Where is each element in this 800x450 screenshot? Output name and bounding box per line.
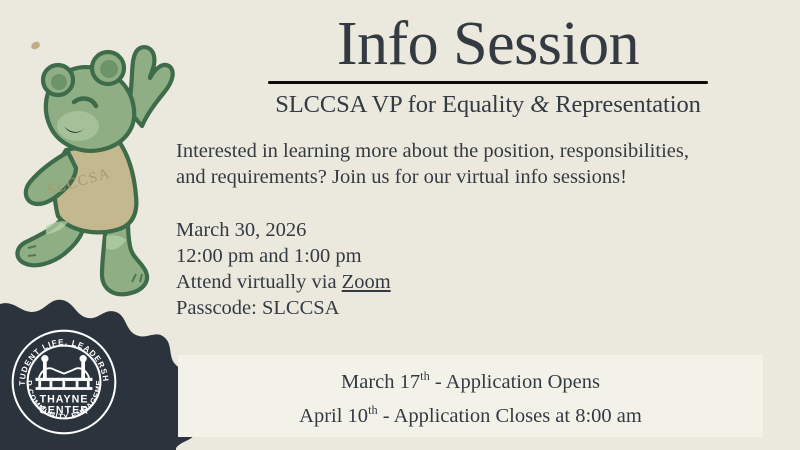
application-closes-date: April 10 — [299, 405, 368, 427]
flyer-canvas: STUDENT LIFE, LEADERSHIP AND COMMUNITY E… — [0, 0, 800, 450]
bridge-icon — [36, 355, 92, 389]
session-passcode: Passcode: SLCCSA — [176, 295, 800, 321]
intro-paragraph-line-2: and requirements? Join us for our virtua… — [176, 164, 721, 190]
application-closes-line: April 10th - Application Closes at 8:00 … — [299, 396, 642, 430]
seal-name-line-1: THAYNE — [40, 394, 89, 406]
session-attend-line: Attend virtually via Zoom — [176, 269, 800, 295]
attend-prefix-text: Attend virtually via — [176, 271, 342, 293]
application-opens-line: March 17th - Application Opens — [341, 362, 600, 396]
page-title: Info Session — [176, 14, 800, 75]
seal-name-line-2: CENTER — [39, 405, 89, 417]
intro-paragraph: Interested in learning more about the po… — [176, 138, 800, 190]
application-closes-label: - Application Closes at 8:00 am — [378, 405, 642, 427]
subtitle: SLCCSA VP for Equality & Representation — [176, 91, 800, 119]
bear-mascot-illustration: SLCCSA — [2, 30, 180, 320]
application-closes-ordinal: th — [368, 403, 378, 417]
session-date: March 30, 2026 — [176, 217, 800, 243]
ampersand-glyph: & — [530, 91, 549, 118]
session-details-block: March 30, 2026 12:00 pm and 1:00 pm Atte… — [176, 217, 800, 321]
zoom-link[interactable]: Zoom — [342, 271, 391, 293]
title-underline-rule — [268, 81, 708, 84]
application-opens-ordinal: th — [420, 369, 430, 383]
subtitle-part-2: Representation — [549, 91, 701, 118]
seal-arc-top-text: STUDENT LIFE, LEADERSHIP — [8, 326, 110, 386]
session-times: 12:00 pm and 1:00 pm — [176, 243, 800, 269]
title-block: Info Session — [176, 0, 800, 84]
subtitle-part-1: SLCCSA VP for Equality — [275, 91, 530, 118]
application-opens-label: - Application Opens — [430, 371, 600, 393]
application-dates-card: March 17th - Application Opens April 10t… — [178, 355, 763, 437]
application-opens-date: March 17 — [341, 371, 420, 393]
intro-paragraph-line-1: Interested in learning more about the po… — [176, 138, 721, 164]
thayne-center-seal-logo: STUDENT LIFE, LEADERSHIP AND COMMUNITY E… — [8, 326, 120, 438]
